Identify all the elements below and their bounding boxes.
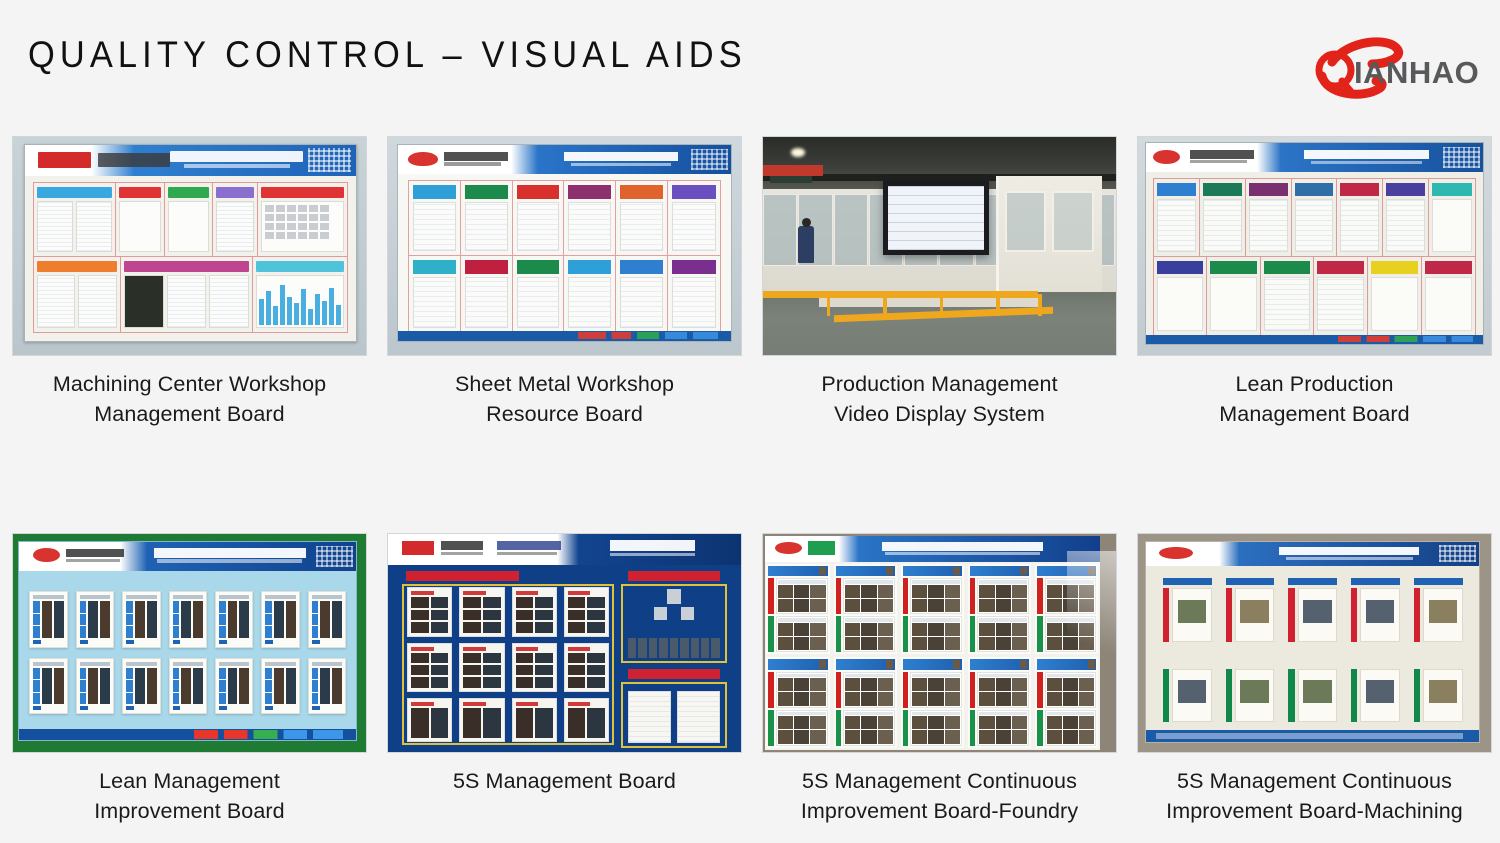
caption-line-2: Management Board — [12, 399, 367, 429]
qianhao-logo-icon — [33, 548, 60, 562]
gallery-item-video-display-system[interactable]: Production Management Video Display Syst… — [762, 136, 1117, 429]
gallery-item-5s-continuous-machining[interactable]: 5S Management Continuous Improvement Boa… — [1137, 533, 1492, 826]
longxing-logo-icon — [38, 152, 91, 168]
caption-line-1: Production Management — [762, 369, 1117, 399]
photo-5s-continuous-improvement-foundry — [763, 534, 1116, 752]
photo-frame[interactable] — [12, 136, 367, 356]
caption-line-1: Machining Center Workshop — [12, 369, 367, 399]
gallery-row-1: Machining Center Workshop Management Boa… — [12, 136, 1488, 429]
caption-line-1: Lean Management — [12, 766, 367, 796]
caption-line-2: Management Board — [1137, 399, 1492, 429]
five-s-footer-text — [194, 730, 342, 739]
caption-line-2: Video Display System — [762, 399, 1117, 429]
five-s-footer-text — [1338, 336, 1473, 342]
visual-aids-gallery: Machining Center Workshop Management Boa… — [12, 136, 1488, 826]
caption-line-1: 5S Management Board — [387, 766, 742, 796]
gallery-row-2: Lean Management Improvement Board — [12, 533, 1488, 826]
photo-frame[interactable] — [762, 136, 1117, 356]
caption-line-1: 5S Management Continuous — [762, 766, 1117, 796]
caption: Sheet Metal Workshop Resource Board — [387, 369, 742, 429]
five-s-footer-text — [578, 332, 718, 339]
caption-line-2: Improvement Board — [12, 796, 367, 826]
section-label-organization — [628, 571, 720, 581]
section-label-countermeasure — [406, 571, 519, 581]
photo-5s-continuous-improvement-machining — [1138, 534, 1491, 752]
longxing-logo-icon — [402, 541, 434, 555]
photo-lean-management-improvement — [13, 534, 366, 752]
photo-frame[interactable] — [1137, 533, 1492, 753]
caption-line-1: 5S Management Continuous — [1137, 766, 1492, 796]
dot-pattern-icon — [308, 148, 351, 172]
photo-sheet-metal-board — [388, 137, 741, 355]
photo-frame[interactable] — [1137, 136, 1492, 356]
gallery-item-sheet-metal-board[interactable]: Sheet Metal Workshop Resource Board — [387, 136, 742, 429]
caption-line-1: Lean Production — [1137, 369, 1492, 399]
caption-line-2: Improvement Board-Foundry — [762, 796, 1117, 826]
photo-machining-center-board — [13, 137, 366, 355]
svg-text:IANHAO: IANHAO — [1354, 55, 1478, 90]
qianhao-logo-icon — [775, 542, 802, 554]
section-label-documents — [628, 669, 720, 679]
photo-frame[interactable] — [387, 533, 742, 753]
huawei-logo-icon — [808, 541, 835, 555]
worker-figure — [798, 226, 814, 263]
caption: 5S Management Continuous Improvement Boa… — [762, 766, 1117, 826]
caption-line-1: Sheet Metal Workshop — [387, 369, 742, 399]
caption: Production Management Video Display Syst… — [762, 369, 1117, 429]
iso-footer-note — [1156, 733, 1463, 739]
photo-5s-management-board — [388, 534, 741, 752]
photo-lean-production-board — [1138, 137, 1491, 355]
qianhao-logo: IANHAO — [1302, 32, 1478, 104]
caption-line-2: Improvement Board-Machining — [1137, 796, 1492, 826]
photo-frame[interactable] — [762, 533, 1117, 753]
caption: Machining Center Workshop Management Boa… — [12, 369, 367, 429]
qianhao-logo-icon — [408, 152, 438, 166]
dot-pattern-icon — [691, 149, 728, 170]
dot-pattern-icon — [1439, 545, 1476, 562]
dot-pattern-icon — [316, 546, 353, 567]
ceiling-lamp-icon — [791, 148, 805, 157]
qianhao-logo-icon — [1153, 150, 1180, 164]
gallery-item-5s-continuous-foundry[interactable]: 5S Management Continuous Improvement Boa… — [762, 533, 1117, 826]
dot-pattern-icon — [1443, 147, 1480, 168]
caption-line-2: Resource Board — [387, 399, 742, 429]
photo-frame[interactable] — [387, 136, 742, 356]
organization-chart — [628, 589, 720, 659]
caption: Lean Management Improvement Board — [12, 766, 367, 826]
slide-title: QUALITY CONTROL – VISUAL AIDS — [28, 34, 747, 76]
caption: Lean Production Management Board — [1137, 369, 1492, 429]
caption: 5S Management Board — [387, 766, 742, 796]
photo-production-video-display — [763, 137, 1116, 355]
qianhao-logo-icon — [1159, 547, 1192, 559]
gallery-item-machining-center-board[interactable]: Machining Center Workshop Management Boa… — [12, 136, 367, 429]
gallery-item-5s-management-board[interactable]: 5S Management Board — [387, 533, 742, 826]
video-display-screen — [883, 181, 989, 255]
caption: 5S Management Continuous Improvement Boa… — [1137, 766, 1492, 826]
gallery-item-lean-management-improvement[interactable]: Lean Management Improvement Board — [12, 533, 367, 826]
gallery-item-lean-production-board[interactable]: Lean Production Management Board — [1137, 136, 1492, 429]
photo-frame[interactable] — [12, 533, 367, 753]
